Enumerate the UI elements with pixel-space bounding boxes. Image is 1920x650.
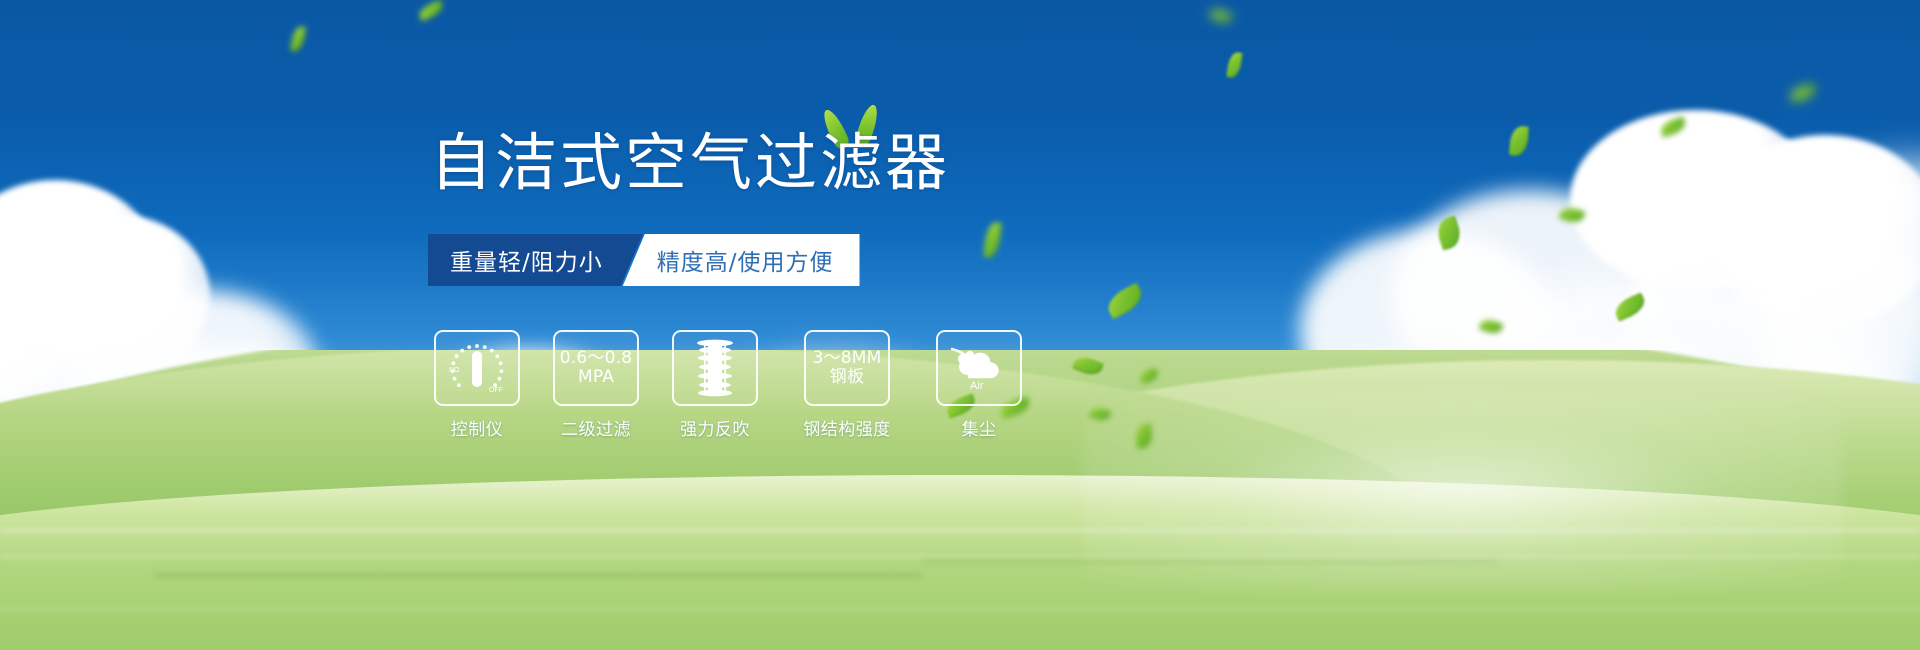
feature-box-controller: NO OFF — [434, 330, 520, 406]
tag-precision-convenience[interactable]: 精度高/使用方便 — [623, 234, 860, 286]
feature-item-steel-strength[interactable]: 3～8MM 钢板 钢结构强度 — [789, 330, 905, 440]
product-hero-banner: 自洁式空气过滤器 重量轻/阻力小 精度高/使用方便 — [0, 0, 1920, 650]
page-title: 自洁式空气过滤器 — [430, 132, 950, 194]
feature-item-controller[interactable]: NO OFF 控制仪 — [432, 330, 522, 440]
feature-item-two-stage-filter[interactable]: 0.6～0.8 MPA 二级过滤 — [551, 330, 641, 440]
air-label: Air — [970, 380, 984, 391]
filter-cartridge-icon — [688, 337, 742, 399]
feature-box-back-blow — [672, 330, 758, 406]
feature-label-controller: 控制仪 — [451, 415, 504, 440]
feature-item-dust-collection[interactable]: Air 集尘 — [934, 330, 1024, 440]
feature-box-steel-strength: 3～8MM 钢板 — [804, 330, 890, 406]
steel-thickness: 3～8MM — [813, 349, 882, 368]
tag-weight-resistance[interactable]: 重量轻/阻力小 — [428, 234, 643, 286]
feature-label-dust-collection: 集尘 — [962, 415, 997, 440]
air-cloud-icon: Air — [948, 345, 1010, 391]
feature-label-steel-strength: 钢结构强度 — [803, 415, 891, 440]
gauge-icon: NO OFF — [445, 338, 509, 398]
gauge-min-label: NO — [449, 367, 460, 374]
feature-label-two-stage-filter: 二级过滤 — [561, 415, 631, 440]
feature-box-two-stage-filter: 0.6～0.8 MPA — [553, 330, 639, 406]
feature-item-back-blow[interactable]: 强力反吹 — [670, 330, 760, 440]
feature-list: NO OFF 控制仪 0.6～0.8 MPA 二级过滤 — [432, 330, 1024, 440]
feature-label-back-blow: 强力反吹 — [680, 415, 750, 440]
highlight-tags: 重量轻/阻力小 精度高/使用方便 — [428, 234, 860, 286]
pressure-value: 0.6～0.8 — [560, 349, 632, 368]
feature-box-dust-collection: Air — [936, 330, 1022, 406]
pressure-unit: MPA — [578, 368, 614, 387]
steel-material: 钢板 — [830, 368, 864, 387]
gauge-max-label: OFF — [489, 387, 503, 394]
